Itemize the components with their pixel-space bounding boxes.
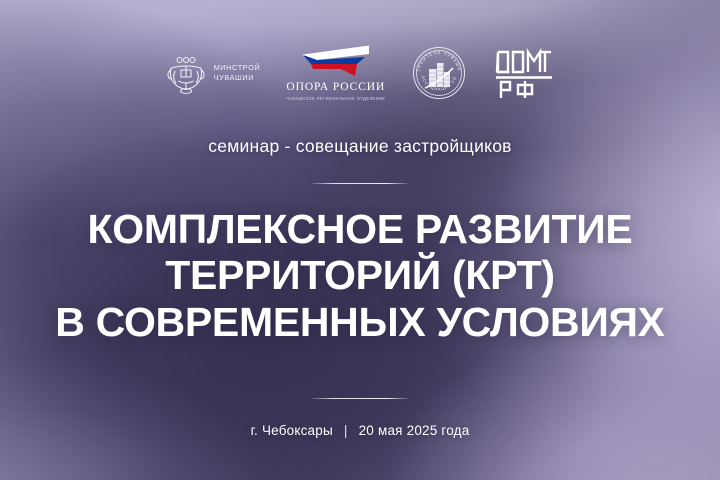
title-line-2: ТЕРРИТОРИЙ (КРТ): [55, 252, 664, 298]
dom-rf-wordmark-icon: [493, 46, 555, 100]
logo-opora-rossii: ОПОРА РОССИИ ЧУВАШСКОЕ РЕГИОНАЛЬНОЕ ОТДЕ…: [286, 44, 385, 102]
stroiteli-chuvashii-seal-icon: СТРОИТЕЛИ ЧУВАШИИ АССОЦИАЦИЯ СО: [411, 45, 467, 101]
opora-rossii-name: ОПОРА РОССИИ: [286, 81, 385, 93]
footer-separator: |: [344, 423, 348, 438]
minstroy-label-line-1: МИНСТРОЙ: [214, 63, 261, 73]
slide-content: МИНСТРОЙ ЧУВАШИИ ОПОРА РОССИИ ЧУВАШСКОЕ …: [0, 0, 720, 480]
minstroy-label-line-2: ЧУВАШИИ: [214, 73, 261, 83]
logo-stroiteli-chuvashii: СТРОИТЕЛИ ЧУВАШИИ АССОЦИАЦИЯ СО: [411, 44, 467, 102]
minstroy-chuvashii-emblem-icon: [165, 51, 207, 95]
slide-title: КОМПЛЕКСНОЕ РАЗВИТИЕ ТЕРРИТОРИЙ (КРТ) В …: [55, 206, 664, 345]
russian-flag-icon: [297, 45, 375, 78]
title-line-1: КОМПЛЕКСНОЕ РАЗВИТИЕ: [55, 206, 664, 252]
divider-bottom: [312, 398, 408, 399]
event-location-date: г. Чебоксары | 20 мая 2025 года: [251, 423, 470, 438]
event-city: г. Чебоксары: [251, 423, 333, 438]
divider-top: [312, 183, 408, 184]
minstroy-chuvashii-label: МИНСТРОЙ ЧУВАШИИ: [214, 63, 261, 83]
event-date: 20 мая 2025 года: [359, 423, 470, 438]
logo-minstroy-chuvashii: МИНСТРОЙ ЧУВАШИИ: [165, 44, 261, 102]
presentation-slide: МИНСТРОЙ ЧУВАШИИ ОПОРА РОССИИ ЧУВАШСКОЕ …: [0, 0, 720, 480]
partner-logo-row: МИНСТРОЙ ЧУВАШИИ ОПОРА РОССИИ ЧУВАШСКОЕ …: [165, 42, 556, 104]
title-line-3: В СОВРЕМЕННЫХ УСЛОВИЯХ: [55, 299, 664, 345]
opora-rossii-subtitle: ЧУВАШСКОЕ РЕГИОНАЛЬНОЕ ОТДЕЛЕНИЕ: [286, 96, 385, 101]
logo-dom-rf: [493, 44, 555, 102]
event-type-subtitle: семинар - совещание застройщиков: [208, 136, 511, 157]
